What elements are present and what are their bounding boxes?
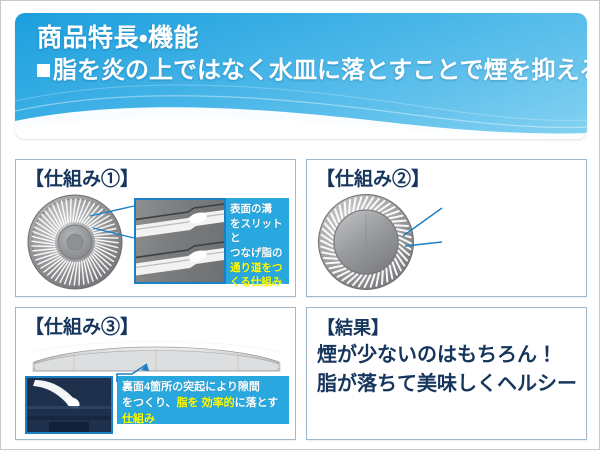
caption-3-line-3: 仕組み — [122, 412, 285, 428]
caption-1-line-5: くる仕組み — [230, 275, 286, 290]
panel-4-title: 【結果】 — [317, 316, 579, 341]
banner-subtitle: 脂を炎の上ではなく水皿に落とすことで煙を抑える — [53, 58, 587, 84]
panel-1-caption: 表面の溝 をスリットと つなげ脂の 通り道をつ くる仕組み — [226, 198, 289, 284]
result-line-1: 煙が少ないのはもちろん！ — [317, 341, 579, 370]
panel-mechanism-2: 【仕組み②】 — [306, 159, 587, 297]
panel-1-title: 【仕組み①】 — [25, 164, 139, 191]
slide-page: 商品特長・機能 脂を炎の上ではなく水皿に落とすことで煙を抑える 【仕組み①】 — [0, 0, 600, 450]
panel-mechanism-3: 【仕組み③】 — [15, 307, 296, 440]
caption-1-line-3: つなげ脂の — [230, 246, 286, 261]
slit-closeup-photo-1 — [134, 198, 226, 284]
caption-3-line-2-head: をつくり、 — [122, 397, 177, 409]
banner-subtitle-row: 脂を炎の上ではなく水皿に落とすことで煙を抑える — [37, 56, 582, 87]
panel-mechanism-1: 【仕組み①】 — [15, 159, 296, 297]
banner-text-block: 商品特長・機能 脂を炎の上ではなく水皿に落とすことで煙を抑える — [37, 23, 582, 87]
header-banner: 商品特長・機能 脂を炎の上ではなく水皿に落とすことで煙を抑える — [15, 13, 587, 139]
caption-3-line-2: をつくり、脂を 効率的に落とす — [122, 396, 285, 412]
square-bullet-icon — [37, 64, 50, 77]
caption-1-line-4: 通り道をつ — [230, 261, 286, 276]
panel-3-title: 【仕組み③】 — [25, 312, 139, 339]
caption-1-line-1: 表面の溝 — [230, 202, 286, 217]
result-text-block: 【結果】 煙が少ないのはもちろん！ 脂が落ちて美味しくヘルシー — [317, 316, 579, 399]
boss-protrusion-closeup-photo-3 — [25, 376, 113, 434]
dome-plate-side-profile-figure — [30, 338, 283, 378]
grill-plate-bottom-view-figure — [316, 192, 416, 292]
panel-2-title: 【仕組み②】 — [316, 164, 430, 191]
caption-3-line-1: 裏面4箇所の突起により隙間 — [122, 380, 285, 396]
result-line-2: 脂が落ちて美味しくヘルシー — [317, 370, 579, 399]
caption-1-line-2: をスリットと — [230, 217, 286, 246]
panel-result: 【結果】 煙が少ないのはもちろん！ 脂が落ちて美味しくヘルシー — [306, 307, 587, 440]
banner-title: 商品特長・機能 — [37, 23, 582, 54]
caption-3-line-2-tail: 脂を 効率的 — [177, 397, 235, 409]
panel-3-caption: 裏面4箇所の突起により隙間 をつくり、脂を 効率的に落とす 仕組み — [117, 376, 289, 424]
grill-plate-top-view-figure — [25, 192, 125, 292]
caption-3-line-2-tail2: に落とす — [235, 397, 279, 409]
